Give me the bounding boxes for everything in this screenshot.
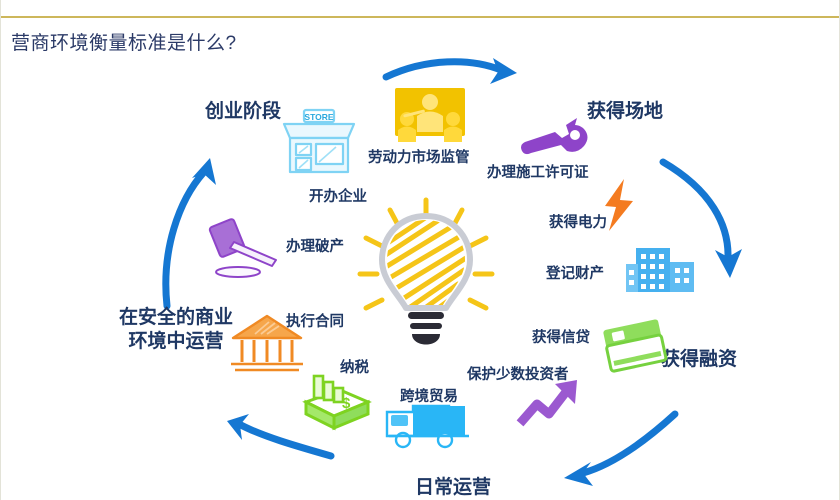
lightbulb-icon xyxy=(356,198,496,358)
credit-card-icon xyxy=(601,318,671,376)
label-construction-permit: 办理施工许可证 xyxy=(487,161,589,182)
label-cross-border-trade: 跨境贸易 xyxy=(400,385,458,406)
label-get-credit: 获得信贷 xyxy=(532,326,590,347)
label-enforce-contracts: 执行合同 xyxy=(286,310,344,331)
label-bankruptcy: 办理破产 xyxy=(286,235,344,256)
store-sign-text: STORE xyxy=(304,112,333,122)
stage-safe-environment-line2: 环境中运营 xyxy=(128,331,223,352)
stage-location: 获得场地 xyxy=(587,100,663,124)
labor-market-icon xyxy=(393,86,467,148)
label-start-business: 开办企业 xyxy=(309,185,367,206)
stage-startup: 创业阶段 xyxy=(205,100,281,124)
label-labor-market: 劳动力市场监管 xyxy=(368,146,470,167)
label-get-electricity: 获得电力 xyxy=(549,211,607,232)
stage-daily-operations: 日常运营 xyxy=(415,476,491,500)
trend-arrow-icon xyxy=(519,378,585,428)
building-icon xyxy=(626,238,698,294)
cash-icon: $ xyxy=(298,368,372,434)
label-protect-investors: 保护少数投资者 xyxy=(467,363,569,384)
bulb-base-icon xyxy=(408,312,444,345)
slide-canvas: 营商环境衡量标准是什么? xyxy=(0,0,840,500)
stage-financing: 获得融资 xyxy=(661,348,737,372)
header-rule xyxy=(1,16,840,18)
label-register-property: 登记财产 xyxy=(546,262,604,283)
dollar-sign-icon: $ xyxy=(342,395,351,412)
store-icon: STORE xyxy=(278,106,360,178)
stage-safe-environment-line1: 在安全的商业 xyxy=(119,307,233,328)
gavel-icon xyxy=(206,218,292,280)
arrow-top-icon xyxy=(386,58,517,84)
wrench-icon xyxy=(517,112,589,158)
label-pay-taxes: 纳税 xyxy=(340,356,369,377)
page-title: 营商环境衡量标准是什么? xyxy=(11,28,237,55)
